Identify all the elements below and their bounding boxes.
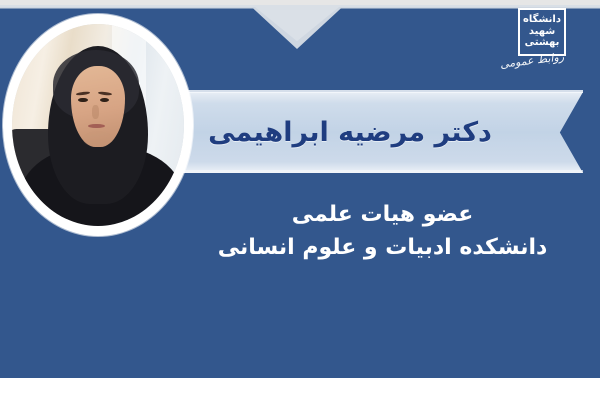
faculty-department: دانشکده ادبیات و علوم انسانی — [180, 231, 585, 264]
university-logo: دانشگاه شهید بهشتی روابط عمومی — [474, 2, 592, 80]
faculty-profile-card: دکتر مرضیه ابراهیمی دا — [0, 0, 600, 400]
logo-line-3: بهشتی — [525, 38, 560, 49]
faculty-name: دکتر مرضیه ابراهیمی — [150, 92, 550, 173]
logo-line-1: دانشگاه — [523, 15, 561, 26]
photo-chin — [83, 131, 112, 147]
photo-nose — [92, 105, 99, 119]
logo-line-2: شهید — [529, 27, 555, 38]
avatar — [3, 14, 193, 236]
logo-square-frame: دانشگاه شهید بهشتی — [518, 8, 566, 56]
subtitle-block: عضو هیات علمی دانشکده ادبیات و علوم انسا… — [180, 198, 585, 264]
avatar-image-frame — [12, 24, 184, 226]
photo-eye-left — [78, 98, 87, 102]
faculty-position: عضو هیات علمی — [180, 198, 585, 231]
logo-text-stack: دانشگاه شهید بهشتی — [520, 10, 564, 54]
portrait-photo — [12, 24, 184, 226]
